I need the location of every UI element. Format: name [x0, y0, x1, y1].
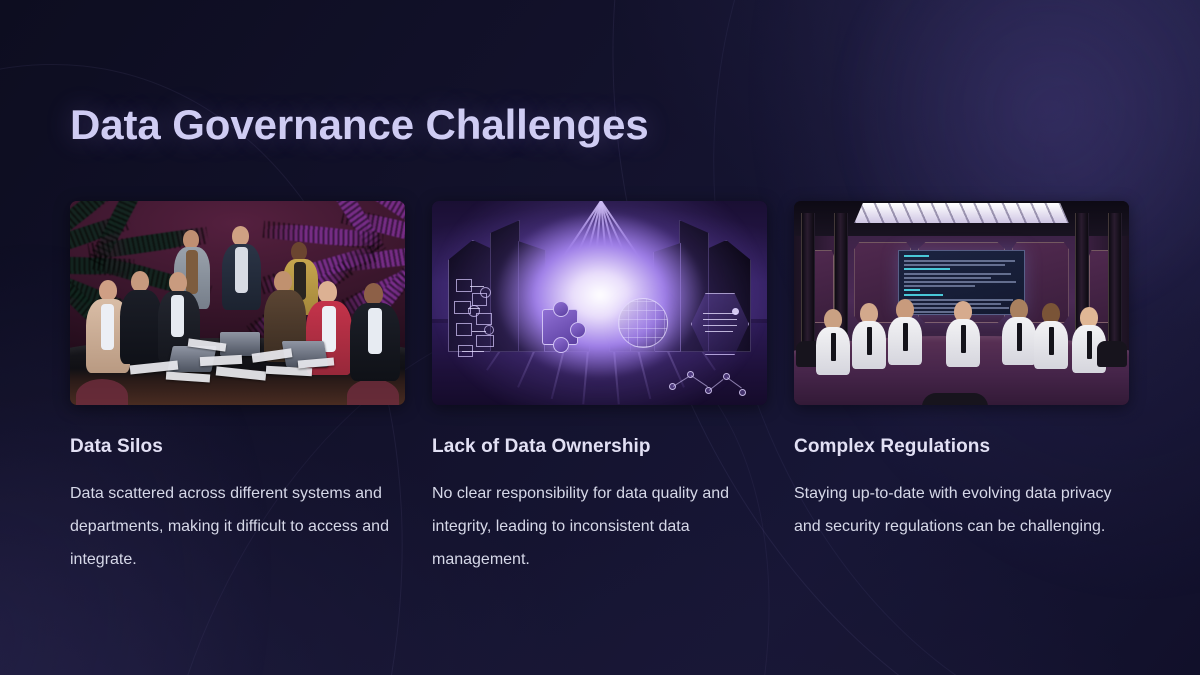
- card-heading: Lack of Data Ownership: [432, 436, 767, 458]
- card-body: Data scattered across different systems …: [70, 477, 405, 576]
- abstract-purple-corridor-illustration: [432, 201, 767, 405]
- card-heading: Complex Regulations: [794, 436, 1129, 458]
- card-body: Staying up-to-date with evolving data pr…: [794, 477, 1129, 543]
- slide-title: Data Governance Challenges: [70, 101, 649, 149]
- slide-canvas: Data Governance Challenges: [0, 0, 1200, 675]
- boardroom-attendees: [794, 201, 1129, 405]
- card-data-silos: Data Silos Data scattered across differe…: [70, 201, 405, 576]
- card-body: No clear responsibility for data quality…: [432, 477, 767, 576]
- card-complex-regulations: Complex Regulations Staying up-to-date w…: [794, 201, 1129, 576]
- laptops-and-papers: [70, 201, 405, 405]
- card-heading: Data Silos: [70, 436, 405, 458]
- card-lack-of-data-ownership: Lack of Data Ownership No clear responsi…: [432, 201, 767, 576]
- cards-row: Data Silos Data scattered across differe…: [70, 201, 1130, 576]
- business-team-meeting-photo: [70, 201, 405, 405]
- formal-boardroom-photo: [794, 201, 1129, 405]
- molecule-diagram-icon: [665, 365, 757, 401]
